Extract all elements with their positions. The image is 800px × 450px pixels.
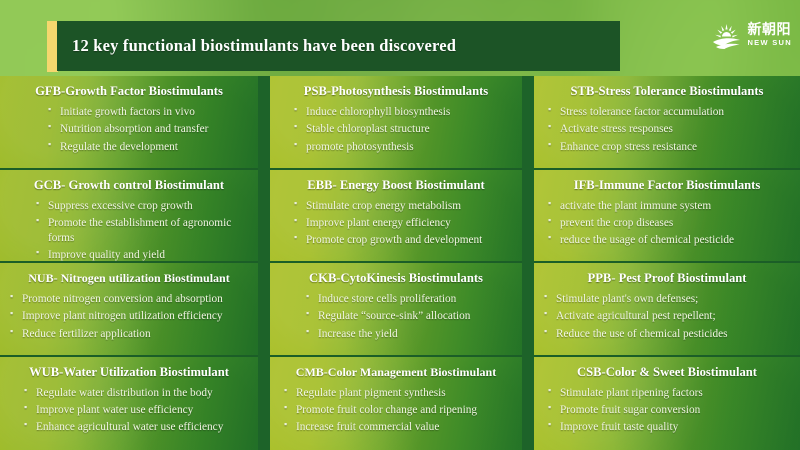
sunrise-over-field-icon <box>711 20 742 50</box>
card-wub[interactable]: WUB-Water Utilization Biostimulant Regul… <box>0 357 258 450</box>
brand-name-block: 新朝阳 NEW SUN <box>747 23 792 47</box>
card-bullet-list: Regulate plant pigment synthesis Promote… <box>284 386 512 436</box>
card-gcb[interactable]: GCB- Growth control Biostimulant Suppres… <box>0 170 258 264</box>
list-item: prevent the crop diseases <box>548 216 790 231</box>
card-title: CSB-Color & Sweet Biostimulant <box>544 365 790 380</box>
card-bullet-list: Promote nitrogen conversion and absorpti… <box>10 292 248 342</box>
list-item: Stress tolerance factor accumulation <box>548 105 790 120</box>
list-item: Promote nitrogen conversion and absorpti… <box>10 292 248 307</box>
card-ckb[interactable]: CKB-CytoKinesis Biostimulants Induce sto… <box>270 263 522 357</box>
list-item: Stimulate plant's own defenses; <box>544 292 790 307</box>
list-item: Increase the yield <box>306 327 512 342</box>
list-item: reduce the usage of chemical pesticide <box>548 233 790 248</box>
card-title: STB-Stress Tolerance Biostimulants <box>544 84 790 99</box>
card-bullet-list: Stimulate crop energy metabolism Improve… <box>294 199 512 249</box>
card-title: IFB-Immune Factor Biostimulants <box>544 178 790 193</box>
list-item: Regulate water distribution in the body <box>24 386 248 401</box>
card-bullet-list: Stimulate plant ripening factors Promote… <box>548 386 790 436</box>
column-gutter <box>258 357 270 450</box>
card-title: CMB-Color Management Biostimulant <box>280 365 512 380</box>
column-gutter <box>522 357 534 450</box>
card-title: NUB- Nitrogen utilization Biostimulant <box>10 271 248 286</box>
list-item: Improve plant energy efficiency <box>294 216 512 231</box>
card-bullet-list: Suppress excessive crop growth Promote t… <box>36 199 248 264</box>
list-item: Regulate the development <box>48 140 248 155</box>
list-item: Improve fruit taste quality <box>548 420 790 435</box>
list-item: Stimulate crop energy metabolism <box>294 199 512 214</box>
card-title: EBB- Energy Boost Biostimulant <box>280 178 512 193</box>
card-title: PPB- Pest Proof Biostimulant <box>544 271 790 286</box>
card-nub[interactable]: NUB- Nitrogen utilization Biostimulant P… <box>0 263 258 357</box>
list-item: Regulate plant pigment synthesis <box>284 386 512 401</box>
biostimulant-card-grid: GFB-Growth Factor Biostimulants Initiate… <box>0 76 800 450</box>
card-bullet-list: Stimulate plant's own defenses; Activate… <box>544 292 790 342</box>
list-item: Induce chlorophyll biosynthesis <box>294 105 512 120</box>
card-ebb[interactable]: EBB- Energy Boost Biostimulant Stimulate… <box>270 170 522 264</box>
list-item: Suppress excessive crop growth <box>36 199 248 214</box>
card-ppb[interactable]: PPB- Pest Proof Biostimulant Stimulate p… <box>534 263 800 357</box>
card-title: PSB-Photosynthesis Biostimulants <box>280 84 512 99</box>
column-gutter <box>258 76 270 170</box>
brand-name-en: NEW SUN <box>747 39 792 47</box>
column-gutter <box>258 170 270 264</box>
list-item: Improve plant water use efficiency <box>24 403 248 418</box>
list-item: Promote fruit color change and ripening <box>284 403 512 418</box>
list-item: Enhance agricultural water use efficienc… <box>24 420 248 435</box>
list-item: Increase fruit commercial value <box>284 420 512 435</box>
slide-title-bar: 12 key functional biostimulants have bee… <box>57 21 620 71</box>
card-ifb[interactable]: IFB-Immune Factor Biostimulants activate… <box>534 170 800 264</box>
card-gfb[interactable]: GFB-Growth Factor Biostimulants Initiate… <box>0 76 258 170</box>
card-cmb[interactable]: CMB-Color Management Biostimulant Regula… <box>270 357 522 450</box>
list-item: Stable chloroplast structure <box>294 122 512 137</box>
card-psb[interactable]: PSB-Photosynthesis Biostimulants Induce … <box>270 76 522 170</box>
card-stb[interactable]: STB-Stress Tolerance Biostimulants Stres… <box>534 76 800 170</box>
column-gutter <box>522 76 534 170</box>
list-item: Activate stress responses <box>548 122 790 137</box>
list-item: Improve plant nitrogen utilization effic… <box>10 309 248 324</box>
brand-logo: 新朝阳 NEW SUN <box>711 20 792 50</box>
card-title: GFB-Growth Factor Biostimulants <box>10 84 248 99</box>
card-title: WUB-Water Utilization Biostimulant <box>10 365 248 380</box>
card-title: GCB- Growth control Biostimulant <box>10 178 248 193</box>
page-title: 12 key functional biostimulants have bee… <box>57 36 456 56</box>
column-gutter <box>522 170 534 264</box>
column-gutter <box>258 263 270 357</box>
card-csb[interactable]: CSB-Color & Sweet Biostimulant Stimulate… <box>534 357 800 450</box>
list-item: Regulate “source-sink” allocation <box>306 309 512 324</box>
card-bullet-list: Regulate water distribution in the body … <box>24 386 248 436</box>
list-item: Promote fruit sugar conversion <box>548 403 790 418</box>
list-item: Enhance crop stress resistance <box>548 140 790 155</box>
card-bullet-list: activate the plant immune system prevent… <box>548 199 790 249</box>
brand-name-cn: 新朝阳 <box>747 23 791 37</box>
list-item: activate the plant immune system <box>548 199 790 214</box>
card-title: CKB-CytoKinesis Biostimulants <box>280 271 512 286</box>
card-bullet-list: Induce store cells proliferation Regulat… <box>306 292 512 342</box>
card-bullet-list: Initiate growth factors in vivo Nutritio… <box>48 105 248 155</box>
list-item: promote photosynthesis <box>294 140 512 155</box>
list-item: Initiate growth factors in vivo <box>48 105 248 120</box>
list-item: Stimulate plant ripening factors <box>548 386 790 401</box>
list-item: Promote crop growth and development <box>294 233 512 248</box>
card-bullet-list: Stress tolerance factor accumulation Act… <box>548 105 790 155</box>
list-item: Promote the establishment of agronomic f… <box>36 216 248 246</box>
card-bullet-list: Induce chlorophyll biosynthesis Stable c… <box>294 105 512 155</box>
list-item: Reduce fertilizer application <box>10 327 248 342</box>
list-item: Activate agricultural pest repellent; <box>544 309 790 324</box>
list-item: Reduce the use of chemical pesticides <box>544 327 790 342</box>
list-item: Improve quality and yield <box>36 248 248 263</box>
list-item: Induce store cells proliferation <box>306 292 512 307</box>
column-gutter <box>522 263 534 357</box>
list-item: Nutrition absorption and transfer <box>48 122 248 137</box>
